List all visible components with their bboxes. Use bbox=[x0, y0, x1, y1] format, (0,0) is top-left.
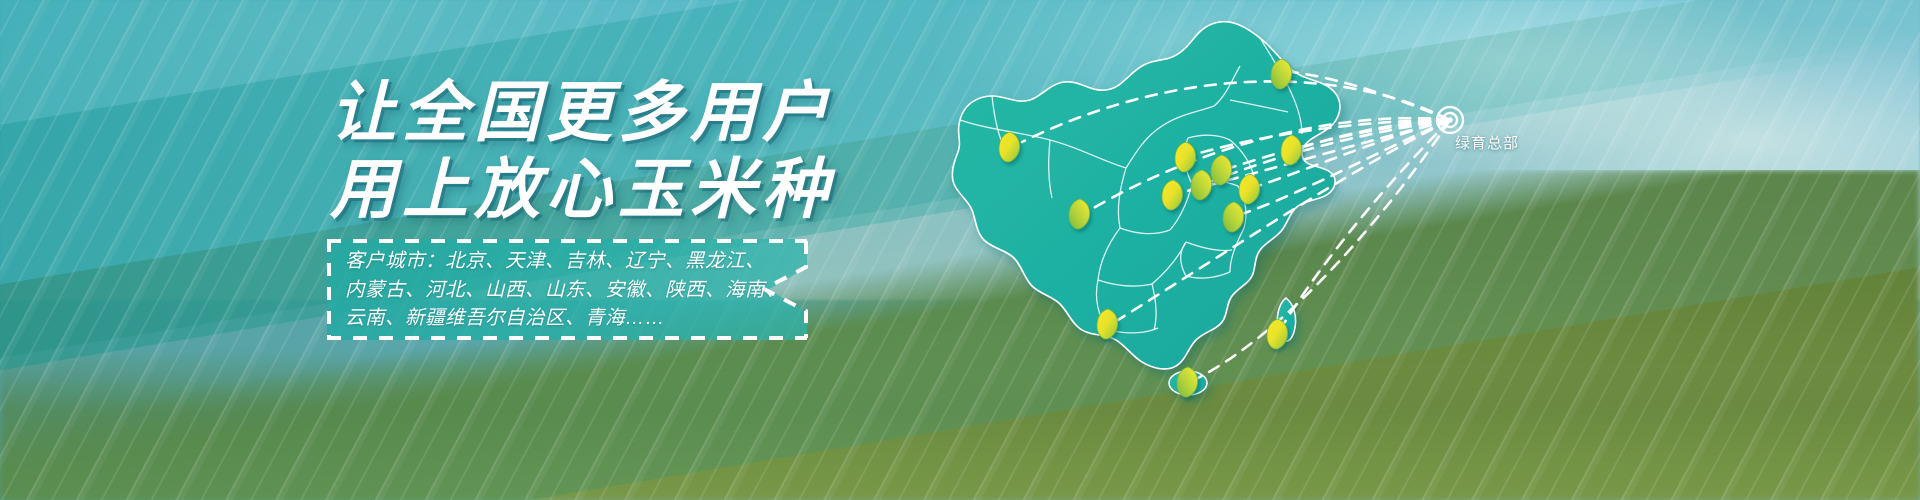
customer-cities-callout: 客户城市：北京、天津、吉林、辽宁、黑龙江、 内蒙古、河北、山西、山东、安徽、陕西… bbox=[327, 239, 807, 340]
callout-dashed-border-bottom bbox=[327, 336, 807, 340]
callout-dashed-border-left bbox=[327, 239, 331, 340]
promo-banner: 绿育总部 让全国更多用户 用上放心玉米种 客户城市：北京、天津、吉林、辽宁、黑龙… bbox=[0, 0, 1920, 500]
callout-line-3: 云南、新疆维吾尔自治区、青海…… bbox=[345, 304, 761, 333]
callout-dashed-border-top bbox=[327, 239, 807, 243]
headline-line-2: 用上放心玉米种 bbox=[330, 151, 834, 228]
callout-line-1: 客户城市：北京、天津、吉林、辽宁、黑龙江、 bbox=[345, 247, 761, 276]
hq-label: 绿育总部 bbox=[1455, 132, 1519, 153]
china-map bbox=[930, 0, 1490, 500]
callout-text: 客户城市：北京、天津、吉林、辽宁、黑龙江、 内蒙古、河北、山西、山东、安徽、陕西… bbox=[345, 247, 761, 333]
callout-line-2: 内蒙古、河北、山西、山东、安徽、陕西、海南、 bbox=[345, 276, 761, 305]
headline: 让全国更多用户 用上放心玉米种 bbox=[330, 74, 834, 227]
headline-line-1: 让全国更多用户 bbox=[330, 74, 834, 151]
